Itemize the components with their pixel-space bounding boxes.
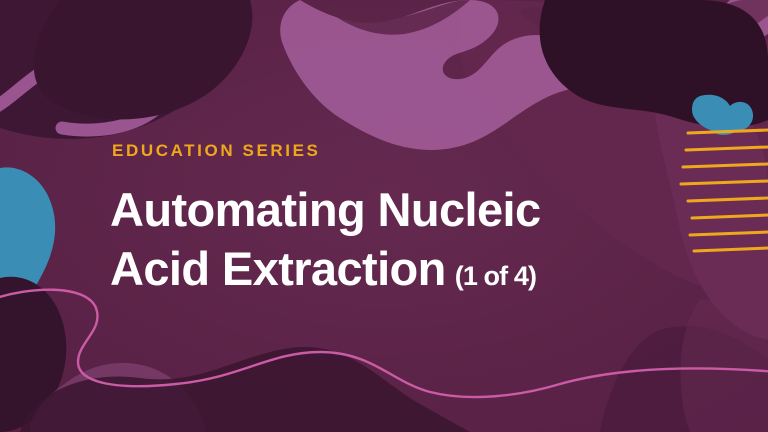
title-slide: EDUCATION SERIES Automating Nucleic Acid… [0,0,768,432]
title-line-2-row: Acid Extraction(1 of 4) [110,239,710,306]
title-block: Automating Nucleic Acid Extraction(1 of … [110,180,710,306]
title-line-1: Automating Nucleic [110,180,710,239]
text-content-layer: EDUCATION SERIES Automating Nucleic Acid… [0,0,768,432]
title-part-indicator: (1 of 4) [446,261,536,291]
series-eyebrow-label: EDUCATION SERIES [112,142,320,159]
title-line-2: Acid Extraction [110,242,446,295]
